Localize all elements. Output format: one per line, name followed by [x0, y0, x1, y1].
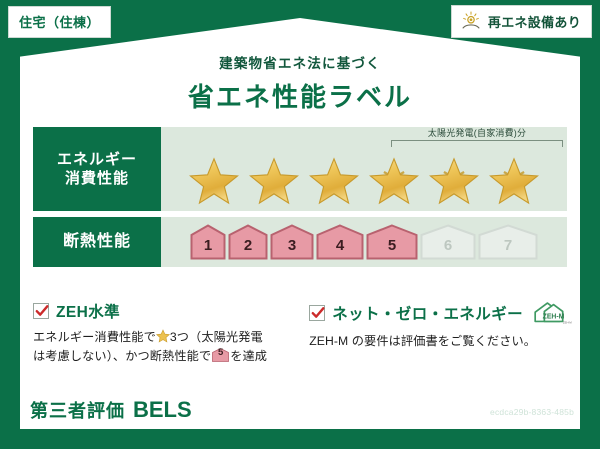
check-icon [35, 304, 49, 318]
energy-label-card: 住宅（住棟） 再エネ設備あり 建築物省エネ法に基づく 省エネ性能ラベル エネルギ… [0, 0, 600, 449]
energy-star [426, 150, 482, 208]
zeh-desc-part2: 3つ（太陽光発電 [170, 330, 263, 344]
energy-star-rating [161, 150, 567, 208]
bels-logo-text: BELS [133, 397, 192, 423]
insulation-grade-badge: 7 [478, 224, 538, 260]
star-icon [366, 150, 422, 208]
insulation-grade-value: 4 [336, 238, 344, 260]
energy-star [246, 150, 302, 208]
insulation-grade-value: 3 [288, 238, 296, 260]
insulation-grade-value: 5 [388, 238, 396, 260]
zeh-m-logo-text: ZEH-M [543, 313, 565, 320]
zeh-standard-description: エネルギー消費性能で3つ（太陽光発電 は考慮しない）、かつ断熱性能で5を達成 [33, 328, 287, 366]
zeh-m-logo-icon: ZEH-M ZEH-M [532, 300, 572, 326]
energy-performance-header: エネルギー 消費性能 [33, 127, 161, 211]
insulation-grade-value: 1 [204, 238, 212, 260]
energy-rating-panel: 太陽光発電(自家消費)分 [161, 127, 567, 211]
label-subtitle: 建築物省エネ法に基づく [0, 52, 600, 72]
bels-certificate-number: 0280985-01 [196, 410, 258, 422]
net-zero-checkbox [309, 305, 325, 321]
evaluation-hash: ecdca29b-8363-485b [451, 407, 574, 417]
bels-certification-bar: 第三者評価 BELS [20, 392, 201, 429]
energy-star [366, 150, 422, 208]
insulation-header-label: 断熱性能 [63, 232, 131, 252]
zeh-desc-part3: は考慮しない）、かつ断熱性能で [33, 349, 211, 363]
net-zero-heading: ネット・ゼロ・エネルギー ZEH-M ZEH-M [309, 300, 572, 326]
renewable-equipment-tag: 再エネ設備あり [451, 5, 592, 38]
star-icon [246, 150, 302, 208]
building-type-tag: 住宅（住棟） [8, 6, 111, 38]
insulation-grade-badge: 3 [270, 224, 314, 260]
zeh-standard-title: ZEH水準 [56, 300, 120, 322]
solar-annotation-label: 太陽光発電(自家消費)分 [391, 129, 563, 139]
star-icon [306, 150, 362, 208]
net-zero-energy-column: ネット・ゼロ・エネルギー ZEH-M ZEH-M ZEH-M の要件は評価書をご… [287, 300, 572, 366]
insulation-grade-value: 6 [444, 238, 452, 260]
insulation-grade-badge: 1 [190, 224, 226, 260]
zeh-desc-part4: を達成 [230, 349, 267, 363]
insulation-grade-badge: 6 [420, 224, 476, 260]
star-icon [186, 150, 242, 208]
label-title-block: 建築物省エネ法に基づく 省エネ性能ラベル [0, 52, 600, 114]
star-icon [426, 150, 482, 208]
energy-star [186, 150, 242, 208]
energy-header-line2: 消費性能 [65, 169, 129, 188]
insulation-grade-badge: 5 [366, 224, 418, 260]
zeh-standard-checkbox [33, 303, 49, 319]
sun-icon [460, 10, 482, 32]
energy-header-line1: エネルギー [57, 150, 137, 169]
energy-star [306, 150, 362, 208]
solar-generation-annotation: 太陽光発電(自家消費)分 [391, 129, 563, 147]
zeh-criteria-block: ZEH水準 エネルギー消費性能で3つ（太陽光発電 は考慮しない）、かつ断熱性能で… [33, 300, 572, 366]
renewable-tag-label: 再エネ設備あり [488, 12, 581, 31]
insulation-grade-value: 7 [504, 238, 512, 260]
insulation-grade-badge: 2 [228, 224, 268, 260]
net-zero-title: ネット・ゼロ・エネルギー [332, 302, 523, 324]
insulation-performance-row: 断熱性能 1234567 [33, 217, 567, 267]
label-main-title: 省エネ性能ラベル [0, 77, 600, 114]
zeh-standard-column: ZEH水準 エネルギー消費性能で3つ（太陽光発電 は考慮しない）、かつ断熱性能で… [33, 300, 287, 366]
insulation-grade-scale: 1234567 [161, 217, 567, 267]
zeh-m-logo-subtext: ZEH-M [563, 321, 572, 325]
inline-grade-value: 5 [212, 348, 229, 362]
energy-performance-row: エネルギー 消費性能 太陽光発電(自家消費)分 [33, 127, 567, 211]
star-icon [486, 150, 542, 208]
energy-star [486, 150, 542, 208]
inline-grade-badge: 5 [212, 348, 229, 362]
bels-third-party-label: 第三者評価 [30, 397, 125, 423]
check-icon [311, 306, 325, 320]
zeh-desc-part1: エネルギー消費性能で [33, 330, 156, 344]
insulation-performance-header: 断熱性能 [33, 217, 161, 267]
insulation-grade-value: 2 [244, 238, 252, 260]
net-zero-description: ZEH-M の要件は評価書をご覧ください。 [309, 332, 572, 351]
insulation-rating-panel: 1234567 [161, 217, 567, 267]
evaluation-date: 評価日 2025年2月6日 [451, 385, 574, 404]
inline-star-icon [156, 329, 170, 343]
evaluation-info: 評価日 2025年2月6日 ecdca29b-8363-485b [451, 385, 574, 417]
zeh-standard-heading: ZEH水準 [33, 300, 287, 322]
performance-table: エネルギー 消費性能 太陽光発電(自家消費)分 断熱性能 1234567 [33, 127, 567, 267]
solar-annotation-bracket [391, 140, 563, 147]
insulation-grade-badge: 4 [316, 224, 364, 260]
